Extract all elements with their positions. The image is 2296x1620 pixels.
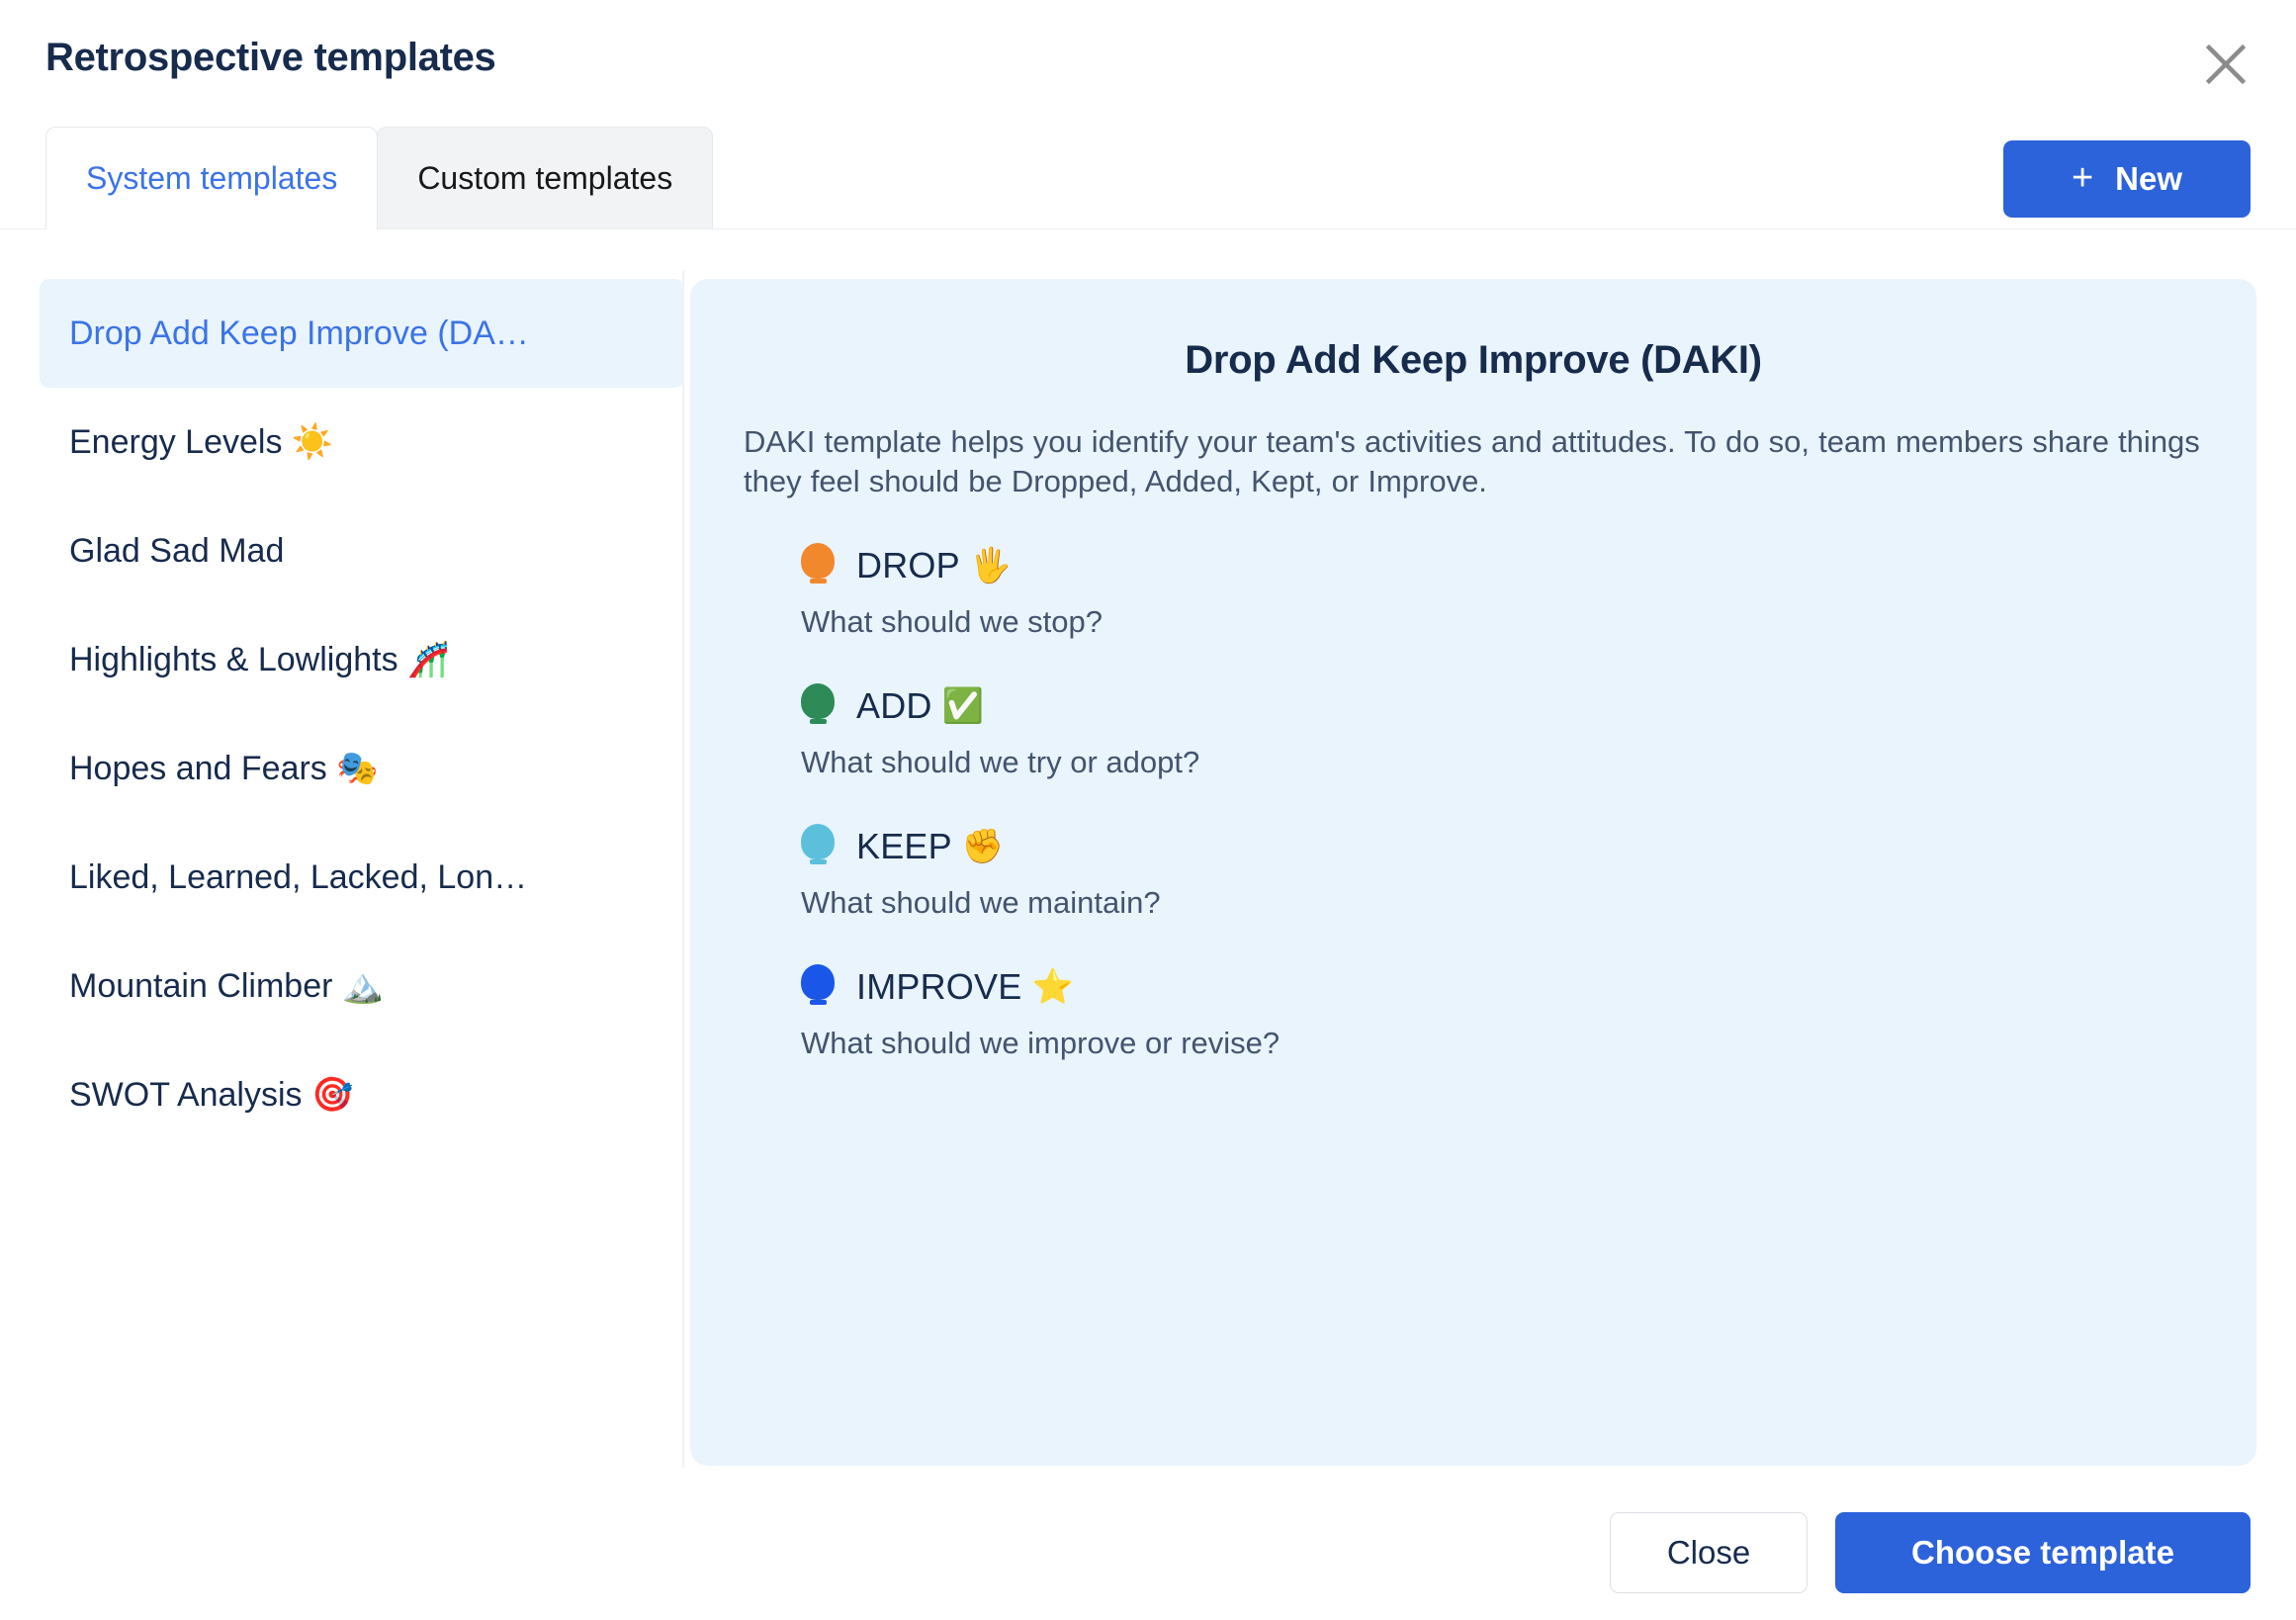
section-name: ADD: [856, 685, 932, 727]
dialog-body: Drop Add Keep Improve (DA… Energy Levels…: [0, 229, 2296, 1485]
raised-fist-icon: ✊: [962, 830, 1005, 863]
template-list: Drop Add Keep Improve (DA… Energy Levels…: [40, 279, 684, 1476]
check-mark-icon: ✅: [942, 689, 985, 723]
section-drop: DROP 🖐️ What should we stop?: [801, 543, 2203, 640]
section-header: DROP 🖐️: [801, 543, 2203, 588]
list-item-label: Drop Add Keep Improve (DA…: [69, 315, 529, 353]
plus-icon: +: [2072, 159, 2093, 197]
star-icon: ⭐: [1031, 970, 1074, 1004]
list-item[interactable]: Glad Sad Mad: [40, 496, 684, 605]
new-template-button[interactable]: + New: [2003, 140, 2251, 218]
new-template-button-label: New: [2115, 160, 2182, 198]
raised-hand-icon: 🖐️: [970, 549, 1013, 583]
close-icon: [2203, 42, 2249, 87]
section-improve: IMPROVE ⭐ What should we improve or revi…: [801, 964, 2203, 1061]
section-header: IMPROVE ⭐: [801, 964, 2203, 1010]
list-item-label: SWOT Analysis 🎯: [69, 1075, 353, 1115]
lightbulb-icon: [801, 824, 835, 869]
tab-custom-templates[interactable]: Custom templates: [377, 127, 713, 229]
preview-description: DAKI template helps you identify your te…: [744, 422, 2203, 501]
preview-sections: DROP 🖐️ What should we stop? ADD ✅: [744, 543, 2203, 1061]
list-item[interactable]: Energy Levels ☀️: [40, 388, 684, 496]
list-item[interactable]: SWOT Analysis 🎯: [40, 1040, 684, 1149]
section-name: DROP: [856, 545, 960, 586]
list-item[interactable]: Mountain Climber 🏔️: [40, 932, 684, 1040]
section-question: What should we stop?: [801, 604, 2203, 640]
tab-custom-templates-label: Custom templates: [417, 160, 672, 197]
list-item[interactable]: Drop Add Keep Improve (DA…: [40, 279, 684, 388]
tab-group: System templates Custom templates: [45, 127, 713, 229]
section-header: KEEP ✊: [801, 824, 2203, 869]
list-item[interactable]: Highlights & Lowlights 🎢: [40, 605, 684, 714]
section-question: What should we improve or revise?: [801, 1026, 2203, 1061]
dialog-footer: Close Choose template: [0, 1485, 2296, 1620]
close-button[interactable]: Close: [1610, 1512, 1808, 1593]
tabs-bar: System templates Custom templates + New: [0, 127, 2296, 229]
lightbulb-icon: [801, 543, 835, 588]
close-dialog-button[interactable]: [2193, 32, 2258, 97]
choose-template-button[interactable]: Choose template: [1835, 1512, 2251, 1593]
list-item[interactable]: Liked, Learned, Lacked, Lon…: [40, 823, 684, 932]
tab-system-templates[interactable]: System templates: [45, 127, 378, 229]
section-keep: KEEP ✊ What should we maintain?: [801, 824, 2203, 921]
list-item-label: Liked, Learned, Lacked, Lon…: [69, 858, 527, 897]
section-question: What should we try or adopt?: [801, 745, 2203, 780]
tab-system-templates-label: System templates: [86, 160, 337, 197]
section-name: IMPROVE: [856, 966, 1021, 1008]
section-add: ADD ✅ What should we try or adopt?: [801, 683, 2203, 780]
section-question: What should we maintain?: [801, 885, 2203, 921]
section-name: KEEP: [856, 826, 952, 867]
template-preview-panel: Drop Add Keep Improve (DAKI) DAKI templa…: [690, 279, 2256, 1466]
vertical-divider: [682, 271, 684, 1468]
list-item-label: Highlights & Lowlights 🎢: [69, 640, 449, 679]
list-item-label: Energy Levels ☀️: [69, 422, 333, 462]
lightbulb-icon: [801, 964, 835, 1010]
page-title: Retrospective templates: [45, 36, 496, 80]
list-item-label: Mountain Climber 🏔️: [69, 966, 384, 1006]
lightbulb-icon: [801, 683, 835, 729]
section-header: ADD ✅: [801, 683, 2203, 729]
dialog-header: Retrospective templates: [0, 0, 2296, 107]
retrospective-templates-dialog: Retrospective templates System templates…: [0, 0, 2296, 1620]
list-item-label: Hopes and Fears 🎭: [69, 749, 379, 788]
list-item[interactable]: Hopes and Fears 🎭: [40, 714, 684, 823]
list-item-label: Glad Sad Mad: [69, 532, 284, 571]
preview-title: Drop Add Keep Improve (DAKI): [744, 338, 2203, 383]
